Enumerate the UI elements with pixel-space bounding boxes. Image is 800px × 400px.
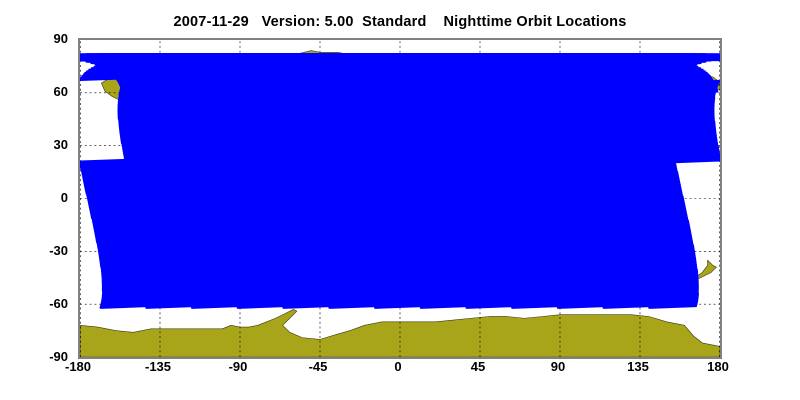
polar-convergence-band xyxy=(80,53,720,61)
y-tick-label-90: 90 xyxy=(8,31,68,46)
orbit-track-descending-7 xyxy=(650,306,696,308)
x-tick-label-90: 90 xyxy=(518,359,598,374)
x-tick-label-180: 180 xyxy=(678,359,758,374)
x-tick-label-45: 45 xyxy=(438,359,518,374)
y-tick-label-60: 60 xyxy=(8,84,68,99)
y-tick-label-neg60: -60 xyxy=(8,296,68,311)
y-tick-label-0: 0 xyxy=(8,190,68,205)
page-title: 2007-11-29 Version: 5.00 Standard Nightt… xyxy=(0,14,800,30)
x-tick-label-0: 0 xyxy=(358,359,438,374)
orbit-locations-figure: 2007-11-29 Version: 5.00 Standard Nightt… xyxy=(0,0,800,400)
x-tick-label-neg180: -180 xyxy=(38,359,118,374)
y-tick-label-30: 30 xyxy=(8,137,68,152)
y-tick-label-neg30: -30 xyxy=(8,243,68,258)
plot-area xyxy=(80,40,720,357)
orbit-track-group xyxy=(80,54,720,307)
world-map-with-orbit-tracks xyxy=(80,40,720,357)
x-tick-label-neg90: -90 xyxy=(198,359,278,374)
x-tick-label-neg45: -45 xyxy=(278,359,358,374)
x-tick-label-neg135: -135 xyxy=(118,359,198,374)
plot-frame xyxy=(78,38,722,359)
x-tick-label-135: 135 xyxy=(598,359,678,374)
orbit-track-ascending-12 xyxy=(665,78,712,80)
